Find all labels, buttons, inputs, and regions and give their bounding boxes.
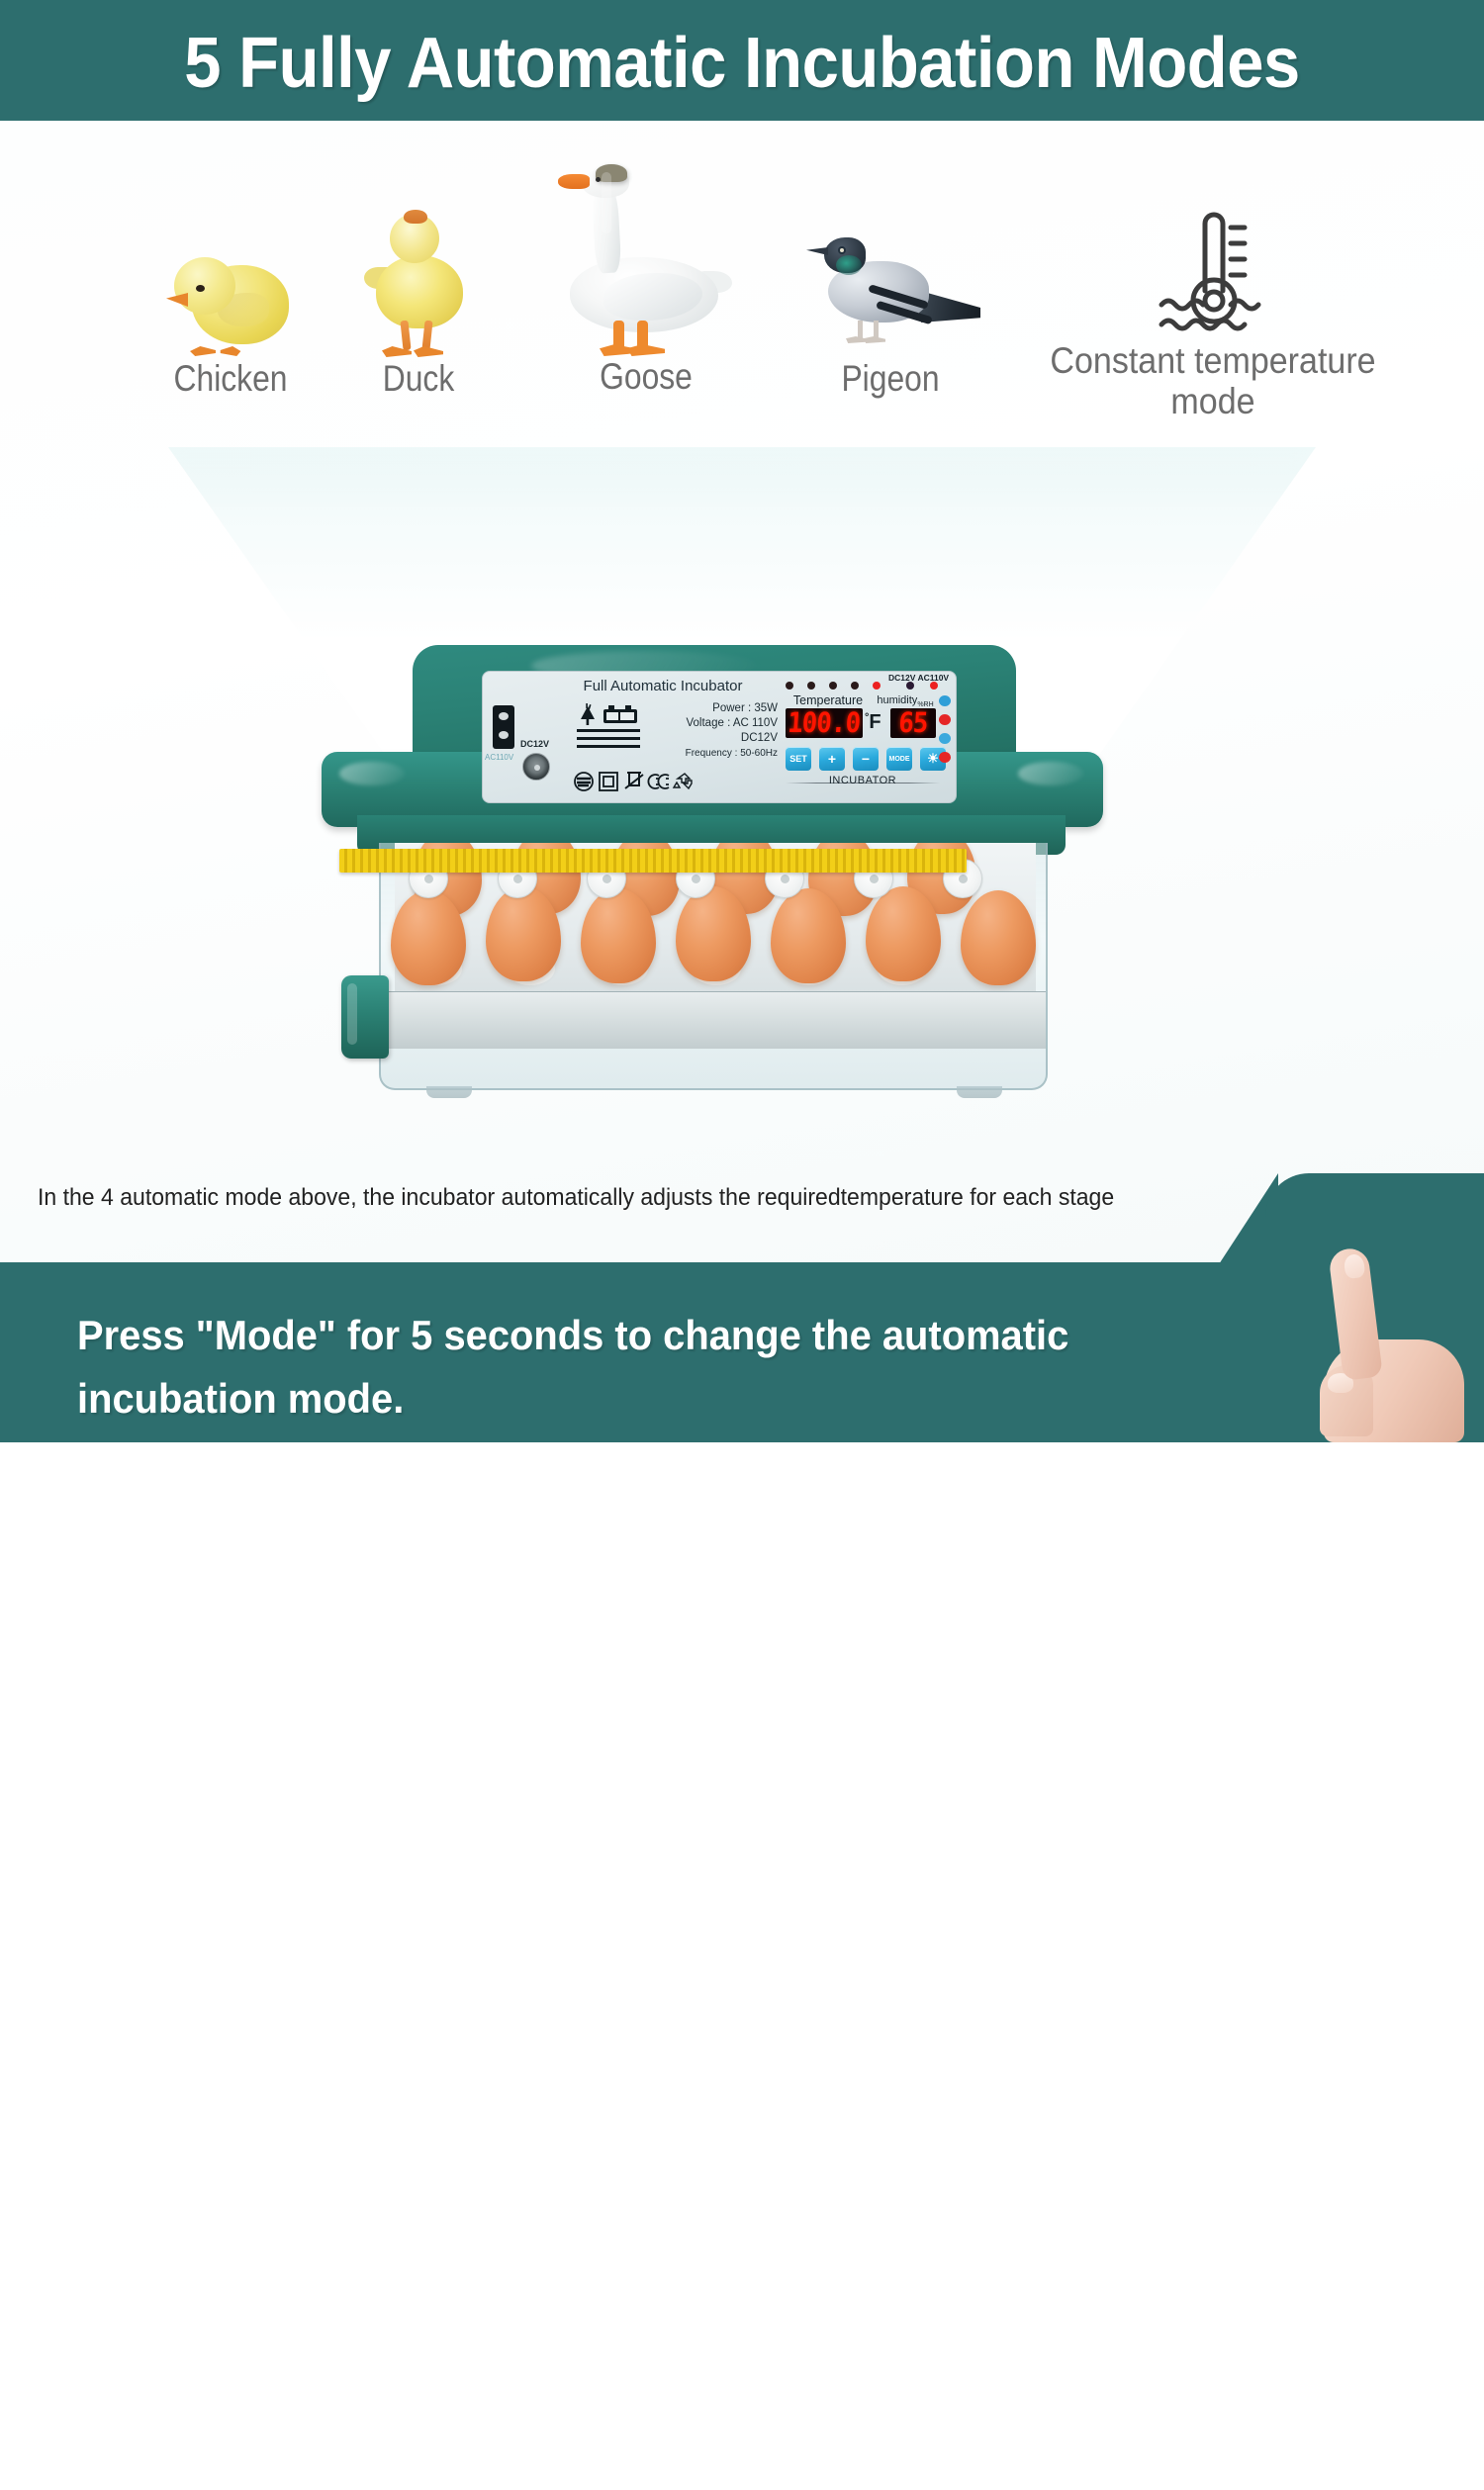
- base-feet: [379, 1086, 1048, 1100]
- mode-item-duck: Duck: [325, 210, 512, 399]
- mode-label-constant-temperature: Constant temperature mode: [1046, 340, 1381, 421]
- egg: [961, 890, 1036, 985]
- spec-frequency: Frequency : 50-60Hz: [649, 746, 778, 761]
- temperature-unit: °F: [865, 711, 881, 734]
- indicator-column-left: [938, 695, 952, 767]
- mode-label-duck: Duck: [337, 358, 499, 399]
- rack-gear-strip: [339, 849, 967, 873]
- voltage-labels: DC12V AC110V: [888, 673, 949, 683]
- ac-socket-label: AC110V: [485, 753, 513, 762]
- spec-power: Power : 35W: [649, 701, 778, 716]
- infographic-canvas: 5 Fully Automatic Incubation Modes Chick…: [0, 0, 1484, 1442]
- mode-label-chicken: Chicken: [149, 358, 311, 399]
- status-led-row: [786, 682, 934, 690]
- spec-list: Power : 35W Voltage : AC 110V DC12V Freq…: [649, 701, 778, 761]
- duckling-photo: [360, 210, 477, 358]
- incubator-product-image: Full Automatic Incubator AC110V DC12V: [322, 645, 1103, 1169]
- brand-word: INCUBATOR: [786, 775, 940, 786]
- egg-turning-tray: [381, 991, 1048, 1049]
- certification-icons: [574, 771, 702, 792]
- plus-button[interactable]: +: [819, 747, 845, 771]
- spec-dc: DC12V: [649, 731, 778, 746]
- panel-title: Full Automatic Incubator: [544, 678, 782, 694]
- humidity-label: humidity%RH: [873, 694, 938, 708]
- goose-photo: [552, 162, 740, 356]
- mode-label-goose: Goose: [557, 356, 736, 397]
- dc12v-jack[interactable]: [522, 753, 550, 781]
- set-button[interactable]: SET: [786, 747, 811, 771]
- page-title: 5 Fully Automatic Incubation Modes: [52, 22, 1433, 105]
- thermometer-water-icon: [1154, 206, 1272, 340]
- humidity-value: 65: [898, 709, 929, 737]
- mode-icon-row: Chicken Duck: [0, 200, 1484, 447]
- flange-highlight-right: [1018, 762, 1083, 785]
- mode-item-goose: Goose: [542, 162, 750, 397]
- mode-item-pigeon: Pigeon: [791, 228, 989, 399]
- display-area: DC12V AC110V Temperature humidity%RH 100…: [780, 672, 957, 803]
- separator-bars: [577, 729, 640, 753]
- spec-voltage: Voltage : AC 110V: [649, 716, 778, 731]
- mode-label-pigeon: Pigeon: [805, 358, 975, 399]
- button-row: SET + − MODE ☀: [786, 747, 940, 773]
- control-panel: Full Automatic Incubator AC110V DC12V: [482, 671, 957, 803]
- ac-power-socket[interactable]: [493, 705, 514, 749]
- flange-highlight-left: [339, 762, 405, 785]
- temperature-value: 100.0: [788, 709, 862, 737]
- temperature-label: Temperature: [786, 693, 871, 707]
- incubator-transparent-base: [379, 843, 1048, 1090]
- pigeon-photo: [802, 228, 978, 358]
- mode-button[interactable]: MODE: [886, 747, 912, 771]
- dc-jack-label: DC12V: [520, 739, 549, 749]
- mode-item-constant-temperature: Constant temperature mode: [1031, 206, 1395, 421]
- main-illustration-area: Chicken Duck: [0, 121, 1484, 1261]
- humidity-label-text: humidity: [877, 694, 917, 706]
- battery-icon: [602, 703, 639, 725]
- chick-photo: [166, 247, 295, 358]
- humidity-display: 65: [890, 708, 936, 738]
- mode-item-chicken: Chicken: [137, 247, 325, 399]
- pointing-hand-icon: [1316, 1248, 1464, 1442]
- footer-instruction: Press "Mode" for 5 seconds to change the…: [77, 1304, 1186, 1430]
- plug-icon: [577, 703, 599, 725]
- temperature-display: 100.0: [786, 708, 863, 738]
- turner-motor-knob[interactable]: [341, 975, 389, 1059]
- caption-text: In the 4 automatic mode above, the incub…: [38, 1183, 1135, 1213]
- minus-button[interactable]: −: [853, 747, 879, 771]
